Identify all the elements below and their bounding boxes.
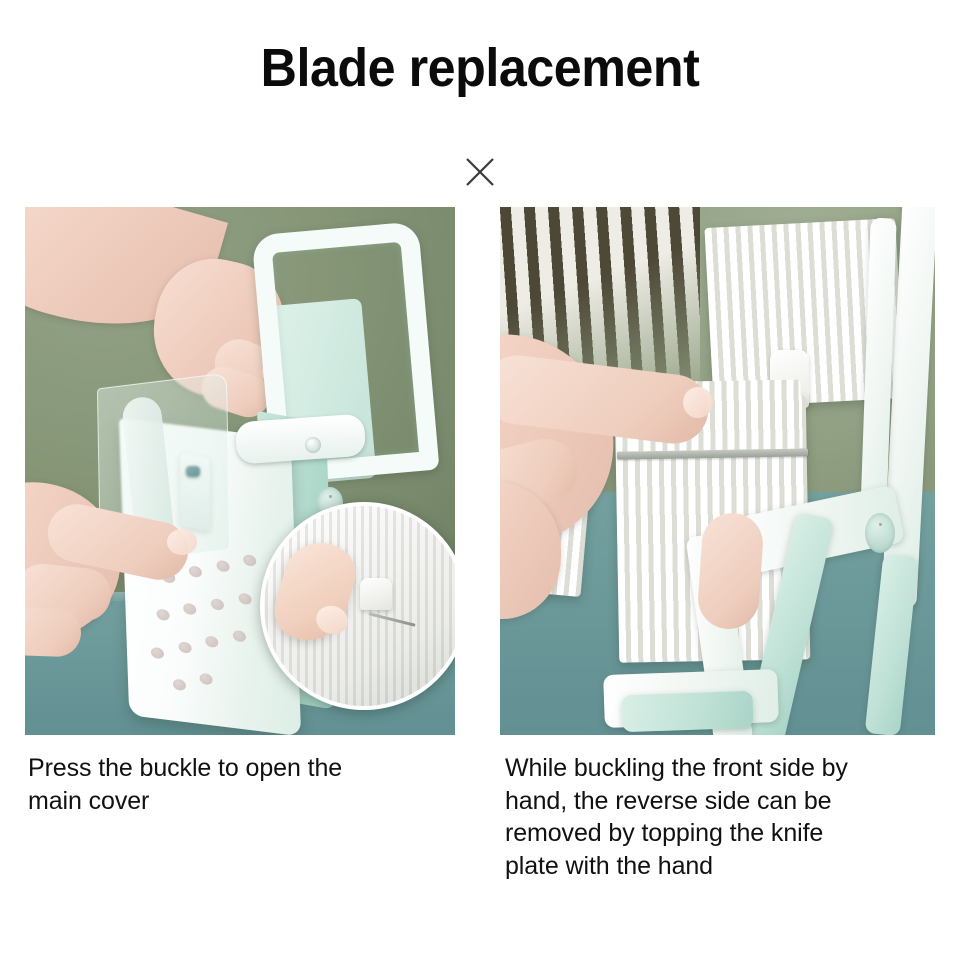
finger-lower-3 bbox=[25, 607, 82, 657]
inset-plate-tab bbox=[360, 578, 392, 610]
caption-left: Press the buckle to open the main cover bbox=[28, 752, 428, 817]
photo-remove-knife-plate bbox=[500, 207, 935, 735]
base-foot-mint bbox=[621, 690, 753, 731]
caption-right-line-1: While buckling the front side by bbox=[505, 752, 925, 785]
step-image-right bbox=[500, 207, 935, 735]
photo-press-buckle bbox=[25, 207, 455, 735]
caption-left-line-2: main cover bbox=[28, 785, 428, 818]
lever-pivot bbox=[305, 437, 321, 453]
page-title: Blade replacement bbox=[34, 40, 927, 97]
finger-behind-plate bbox=[696, 511, 765, 631]
magnifier-inset bbox=[260, 502, 455, 710]
step-image-left bbox=[25, 207, 455, 735]
caption-right-line-4: plate with the hand bbox=[505, 850, 925, 883]
caption-left-line-1: Press the buckle to open the bbox=[28, 752, 428, 785]
x-mark-icon bbox=[463, 155, 497, 189]
caption-right: While buckling the front side by hand, t… bbox=[505, 752, 925, 882]
index-fingernail bbox=[683, 387, 713, 419]
caption-right-line-3: removed by topping the knife bbox=[505, 817, 925, 850]
caption-right-line-2: hand, the reverse side can be bbox=[505, 785, 925, 818]
